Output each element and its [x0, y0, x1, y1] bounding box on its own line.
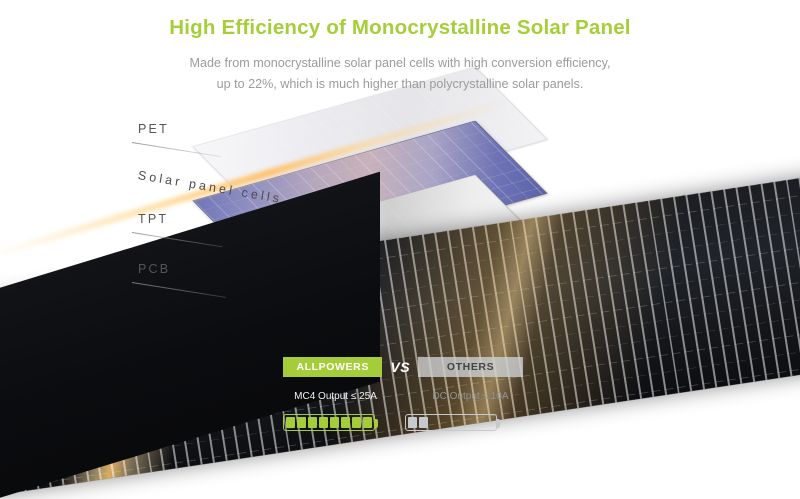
- battery-allpowers-segment: [341, 417, 350, 428]
- battery-indicator-others: [405, 414, 497, 431]
- battery-allpowers-segment: [319, 417, 328, 428]
- battery-others-segment: [474, 417, 483, 428]
- battery-others-segment: [452, 417, 461, 428]
- metric-allpowers-output: MC4 Output ≤ 25A: [283, 391, 388, 402]
- battery-others-segment: [485, 417, 494, 428]
- comparison-battery-row: [283, 414, 523, 431]
- callout-solar-panel-cells: Solar panel cells: [138, 168, 284, 182]
- page-subtitle: Made from monocrystalline solar panel ce…: [0, 53, 800, 95]
- battery-others-segment: [408, 417, 417, 428]
- battery-others-segment: [419, 417, 428, 428]
- battery-indicator-allpowers: [283, 414, 375, 431]
- battery-others-segment: [430, 417, 439, 428]
- callout-pcb: PCB: [138, 262, 170, 276]
- callout-tpt: TPT: [138, 212, 168, 226]
- battery-allpowers-segment: [352, 417, 361, 428]
- callout-label-pcb: PCB: [138, 262, 170, 276]
- callout-pet: PET: [138, 122, 169, 136]
- metric-others-output: DC Output ≤ 10A: [418, 391, 523, 402]
- callout-label-pet: PET: [138, 122, 169, 136]
- battery-allpowers-segment: [330, 417, 339, 428]
- comparison-block: ALLPOWERS VS OTHERS MC4 Output ≤ 25A DC …: [283, 357, 523, 457]
- badge-allpowers: ALLPOWERS: [283, 357, 382, 377]
- battery-allpowers-segment: [308, 417, 317, 428]
- battery-others-segment: [463, 417, 472, 428]
- battery-others-segment: [441, 417, 450, 428]
- vs-label: VS: [390, 359, 410, 375]
- comparison-metric-row: MC4 Output ≤ 25A DC Output ≤ 10A: [283, 391, 523, 402]
- comparison-badge-row: ALLPOWERS VS OTHERS: [283, 357, 523, 377]
- battery-allpowers-segment: [363, 417, 372, 428]
- subtitle-line-2: up to 22%, which is much higher than pol…: [0, 74, 800, 95]
- callout-label-tpt: TPT: [138, 212, 168, 226]
- promo-banner: High Efficiency of Monocrystalline Solar…: [0, 0, 800, 499]
- subtitle-line-1: Made from monocrystalline solar panel ce…: [0, 53, 800, 74]
- battery-allpowers-segment: [286, 417, 295, 428]
- battery-allpowers-segment: [297, 417, 306, 428]
- page-title: High Efficiency of Monocrystalline Solar…: [0, 16, 800, 40]
- badge-others: OTHERS: [418, 357, 523, 377]
